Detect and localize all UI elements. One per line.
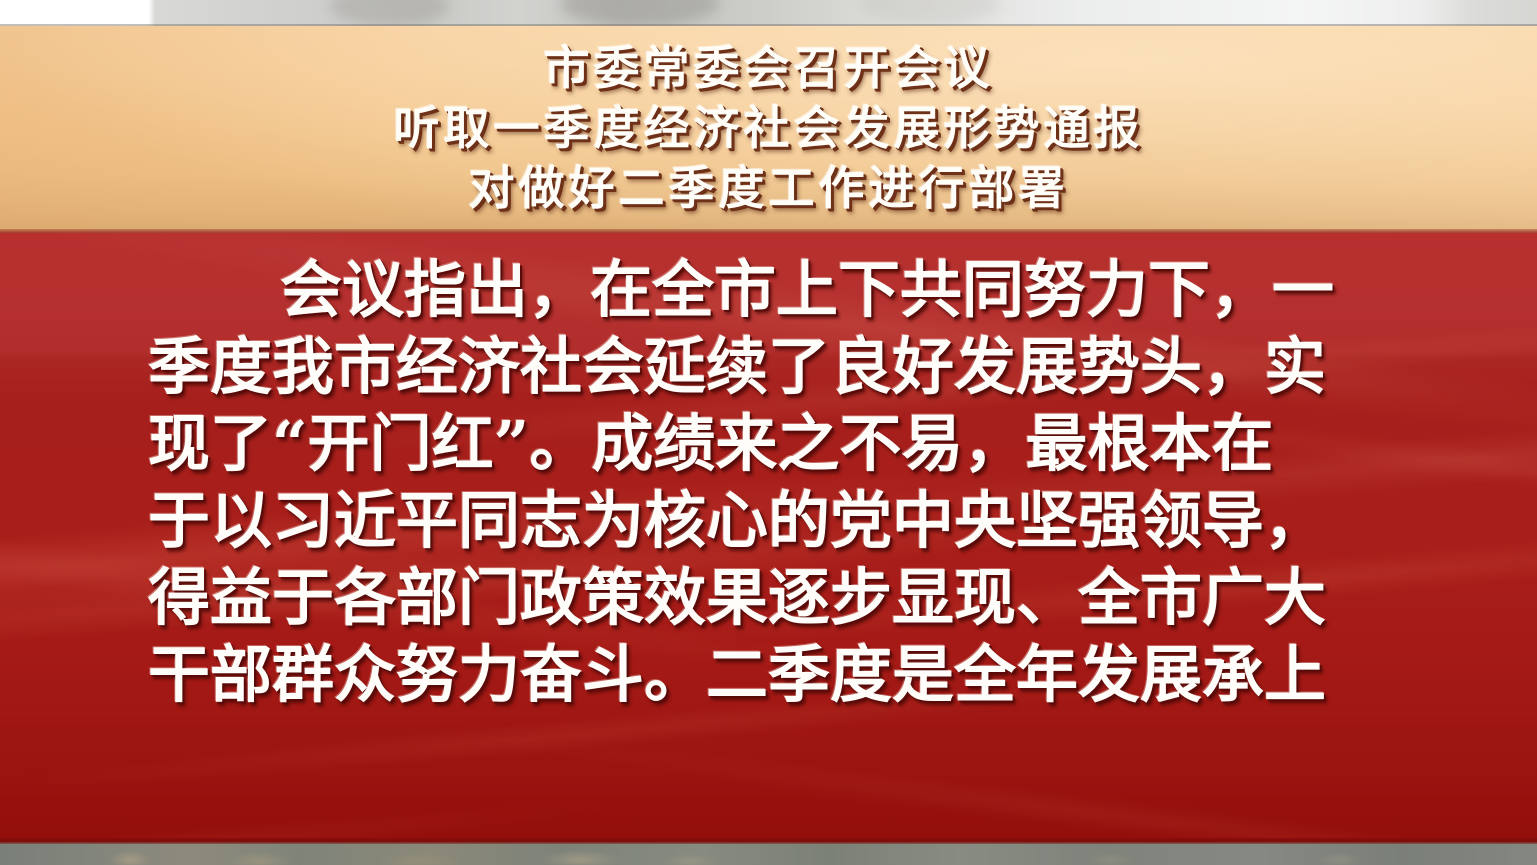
body-line-2: 季度我市经济社会延续了良好发展势头，实 <box>148 328 1388 405</box>
body-line-6: 干部群众努力奋斗。二季度是全年发展承上 <box>148 636 1388 713</box>
body-paragraph: 会议指出，在全市上下共同努力下，一 季度我市经济社会延续了良好发展势头，实 现了… <box>148 251 1388 713</box>
body-panel: 会议指出，在全市上下共同努力下，一 季度我市经济社会延续了良好发展势头，实 现了… <box>0 233 1537 838</box>
news-title-card: 市委常委会召开会议 听取一季度经济社会发展形势通报 对做好二季度工作进行部署 会… <box>0 0 1537 865</box>
body-line-3: 现了“开门红”。成绩来之不易，最根本在 <box>148 405 1388 482</box>
title-banner: 市委常委会召开会议 听取一季度经济社会发展形势通报 对做好二季度工作进行部署 <box>0 26 1537 233</box>
body-line-5: 得益于各部门政策效果逐步显现、全市广大 <box>148 559 1388 636</box>
video-foliage-texture <box>0 844 1537 865</box>
title-line-3: 对做好二季度工作进行部署 <box>0 158 1537 218</box>
video-frame-top-strip <box>0 0 1537 27</box>
title-line-1: 市委常委会召开会议 <box>0 38 1537 98</box>
video-blur-blob <box>560 0 720 26</box>
video-blur-blob <box>860 0 1000 24</box>
title-lines-group: 市委常委会召开会议 听取一季度经济社会发展形势通报 对做好二季度工作进行部署 <box>0 26 1537 218</box>
video-blur-blob <box>330 0 450 26</box>
body-line-4: 于以习近平同志为核心的党中央坚强领导， <box>148 482 1388 559</box>
video-frame-bottom-strip <box>0 838 1537 865</box>
body-line-1: 会议指出，在全市上下共同努力下，一 <box>148 251 1388 328</box>
title-line-2: 听取一季度经济社会发展形势通报 <box>0 98 1537 158</box>
